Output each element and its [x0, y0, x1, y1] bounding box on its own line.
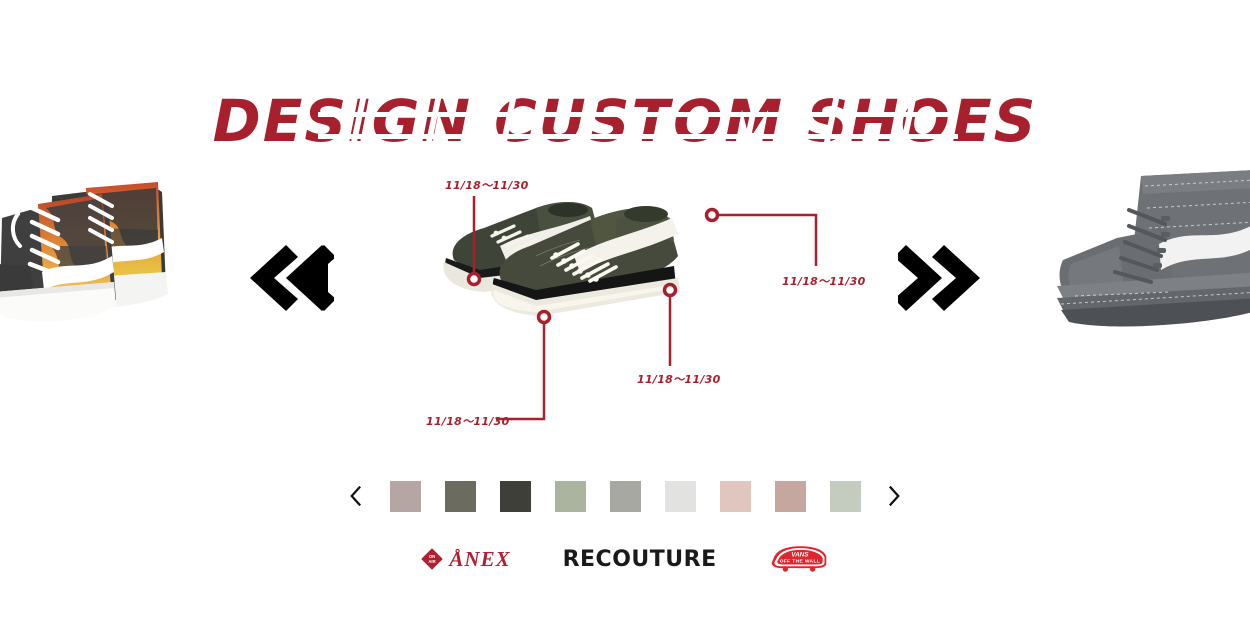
carousel-slide-center[interactable] [440, 186, 770, 316]
page-title: DESIGN CUSTOM SHOES [0, 92, 1250, 150]
anex-diamond-icon: ON AIR [421, 548, 443, 570]
swatch-sage-green[interactable] [555, 481, 586, 512]
carousel-slide-right[interactable] [1055, 168, 1250, 343]
double-chevron-right-icon [898, 243, 984, 313]
svg-text:AIR: AIR [429, 559, 436, 564]
annotation-label-midsole: 11/18～11/30 [637, 371, 721, 387]
carousel-prev-button[interactable] [248, 243, 334, 313]
design-custom-shoes-page: DESIGN CUSTOM SHOES [0, 0, 1250, 625]
brand-logo-anex[interactable]: ON AIR ÅNEX [421, 547, 510, 572]
annotation-label-upper-toe: 11/18～11/30 [445, 177, 529, 193]
brand-logo-recouture[interactable]: RECOUTURE [563, 547, 717, 572]
off-the-wall-text: OFF THE WALL [779, 559, 820, 565]
swatch-pale-sage[interactable] [830, 481, 861, 512]
swatch-taupe-mauve[interactable] [390, 481, 421, 512]
page-title-wrapper: DESIGN CUSTOM SHOES [0, 46, 1250, 108]
swatch-dark-charcoal[interactable] [500, 481, 531, 512]
recouture-wordmark: RECOUTURE [563, 547, 717, 572]
swatch-blush-pink[interactable] [720, 481, 751, 512]
brand-logo-vans[interactable]: VANS OFF THE WALL [769, 545, 829, 573]
vans-old-skool-olive-image [440, 186, 770, 316]
annotation-label-heel-collar: 11/18～11/30 [782, 273, 866, 289]
swatch-prev-button[interactable] [345, 481, 367, 511]
chevron-left-icon [350, 486, 362, 506]
swatch-next-button[interactable] [883, 481, 905, 511]
carousel-next-button[interactable] [898, 243, 984, 313]
annotation-label-toe-cap: 11/18～11/30 [426, 413, 510, 429]
anex-wordmark: ÅNEX [449, 547, 510, 572]
vans-sk8-hi-gray-image [1055, 168, 1250, 343]
vans-off-the-wall-icon: VANS OFF THE WALL [769, 545, 829, 573]
swatch-off-white[interactable] [665, 481, 696, 512]
color-swatch-picker [345, 478, 905, 514]
swatch-dusty-rose[interactable] [775, 481, 806, 512]
swatch-list [390, 481, 861, 512]
swatch-warm-gray[interactable] [610, 481, 641, 512]
double-chevron-left-icon [248, 243, 334, 313]
vans-wordmark: VANS [791, 551, 809, 558]
brand-logo-row: ON AIR ÅNEX RECOUTURE VANS OFF THE WALL [0, 545, 1250, 573]
vans-sk8-hi-flame-image [0, 168, 200, 343]
swatch-olive-gray[interactable] [445, 481, 476, 512]
carousel-slide-left[interactable] [0, 168, 200, 343]
chevron-right-icon [888, 486, 900, 506]
